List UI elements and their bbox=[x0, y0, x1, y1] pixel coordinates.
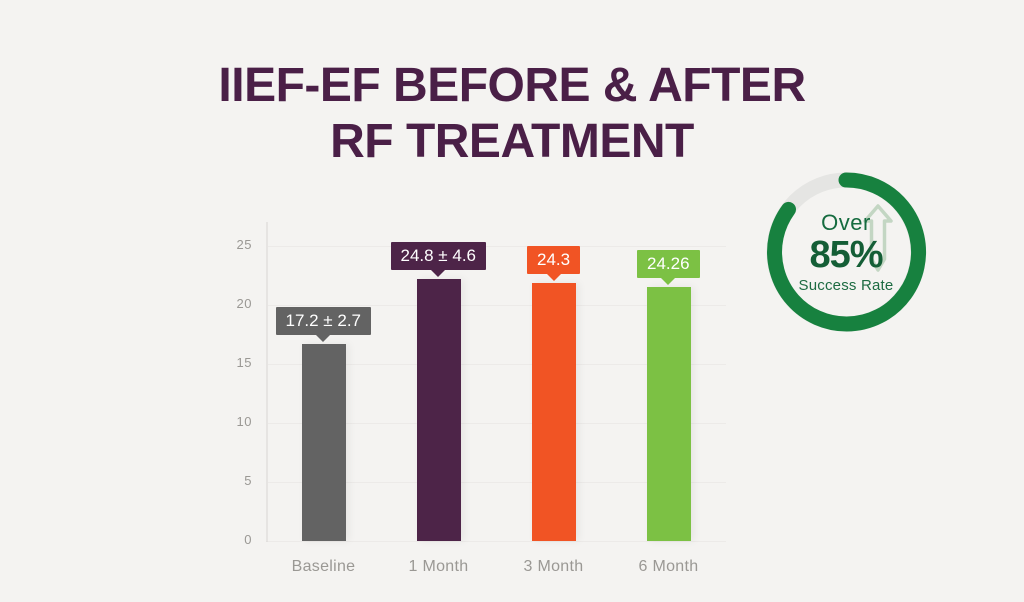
bar-value-label: 24.3 bbox=[527, 246, 580, 274]
gridline bbox=[268, 246, 726, 247]
x-axis-tick-label: Baseline bbox=[264, 558, 384, 576]
x-axis-tick-label: 3 Month bbox=[494, 558, 614, 576]
bar[interactable] bbox=[532, 283, 576, 541]
bar-value-text: 24.8 ± 4.6 bbox=[401, 246, 477, 265]
y-axis-tick-label: 5 bbox=[206, 473, 252, 488]
callout-tail bbox=[661, 278, 675, 285]
callout-tail bbox=[431, 270, 445, 277]
badge-percent-value: 85% bbox=[809, 234, 882, 276]
success-rate-badge: Over 85% Success Rate bbox=[760, 166, 932, 338]
y-axis-line bbox=[266, 222, 268, 542]
infographic-root: IIEF-EF BEFORE & AFTER RF TREATMENT 0510… bbox=[0, 0, 1024, 602]
badge-text-group: Over 85% Success Rate bbox=[760, 166, 932, 338]
x-axis-tick-label: 1 Month bbox=[379, 558, 499, 576]
y-axis-tick-label: 10 bbox=[206, 414, 252, 429]
badge-over-label: Over bbox=[821, 210, 871, 236]
y-axis-tick-label: 0 bbox=[206, 532, 252, 547]
bar-value-label: 17.2 ± 2.7 bbox=[276, 307, 372, 335]
y-axis-tick-label: 15 bbox=[206, 355, 252, 370]
bar-value-label: 24.8 ± 4.6 bbox=[391, 242, 487, 270]
bar-value-text: 17.2 ± 2.7 bbox=[286, 311, 362, 330]
x-axis-tick-label: 6 Month bbox=[609, 558, 729, 576]
bar-value-text: 24.26 bbox=[647, 254, 690, 273]
bar[interactable] bbox=[647, 287, 691, 541]
badge-success-rate-label: Success Rate bbox=[799, 277, 894, 294]
y-axis-tick-label: 20 bbox=[206, 296, 252, 311]
bar-value-text: 24.3 bbox=[537, 250, 570, 269]
callout-tail bbox=[316, 335, 330, 342]
bar[interactable] bbox=[302, 344, 346, 541]
bar-value-label: 24.26 bbox=[637, 250, 700, 278]
bar[interactable] bbox=[417, 279, 461, 541]
gridline bbox=[268, 541, 726, 542]
y-axis-tick-label: 25 bbox=[206, 237, 252, 252]
callout-tail bbox=[547, 274, 561, 281]
